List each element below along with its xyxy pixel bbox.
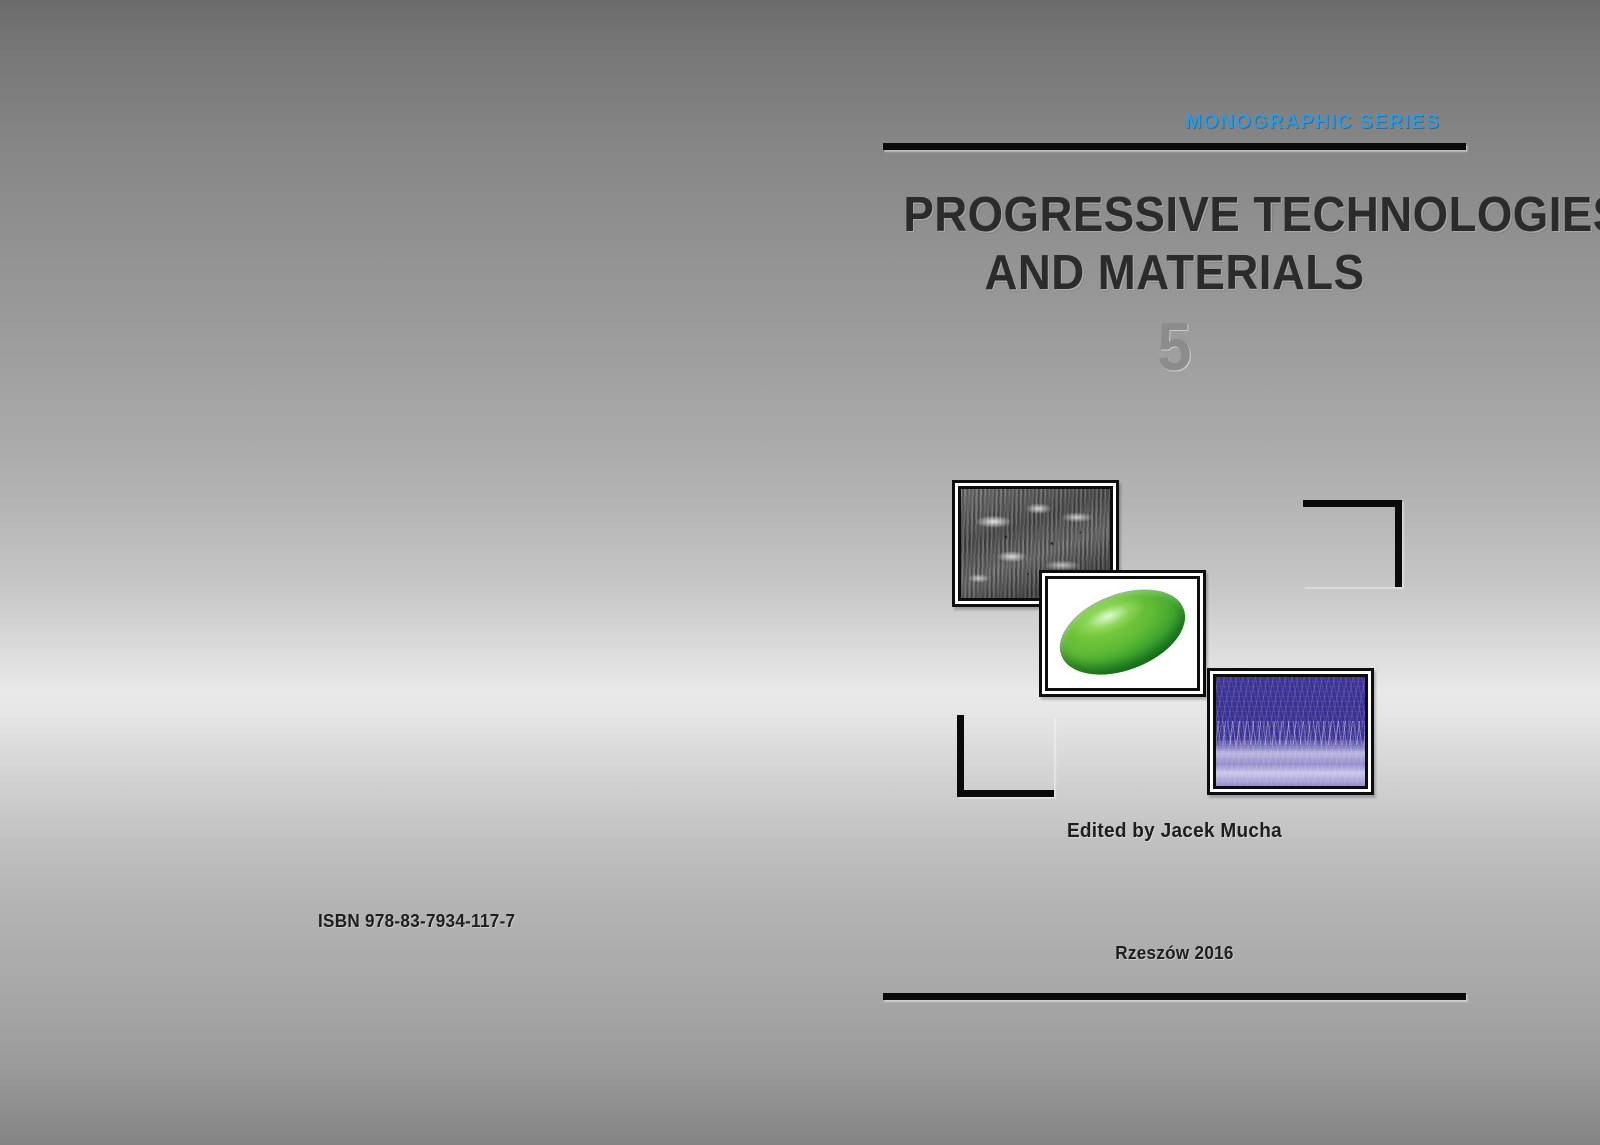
title-line-1: PROGRESSIVE TECHNOLOGIES [903,186,1445,244]
front-cover-panel: MONOGRAPHIC SERIES PROGRESSIVE TECHNOLOG… [883,0,1466,1145]
cover-collage [883,0,1466,1145]
top-rule [883,143,1466,150]
purple-micrograph-frame [1213,674,1368,789]
editor-credit: Edited by Jacek Mucha [898,820,1452,843]
bottom-rule [883,993,1466,1000]
series-kicker: MONOGRAPHIC SERIES [1185,111,1440,134]
green-ellipsoid-tile [1039,570,1206,697]
title-line-2: AND MATERIALS [903,244,1445,302]
top-right-bracket [1303,500,1402,587]
sem-micrograph-frame [958,486,1113,601]
green-ellipsoid-frame [1045,576,1200,691]
imprint-text: Rzeszów 2016 [898,943,1452,964]
sem-micrograph-tile [952,480,1119,607]
bottom-left-bracket [957,715,1054,797]
page-title: PROGRESSIVE TECHNOLOGIES AND MATERIALS [883,186,1466,302]
isbn-text: ISBN 978-83-7934-117-7 [318,911,515,932]
sem-micrograph-image [961,489,1110,598]
purple-micrograph-image [1216,677,1365,786]
purple-micrograph-tile [1207,668,1374,795]
green-ellipsoid-shape [1048,576,1198,691]
purple-noise-band [1216,721,1365,745]
book-cover: ISBN 978-83-7934-117-7 MONOGRAPHIC SERIE… [0,0,1600,1145]
green-ellipsoid-rim [1048,584,1198,691]
volume-number: 5 [912,310,1437,384]
